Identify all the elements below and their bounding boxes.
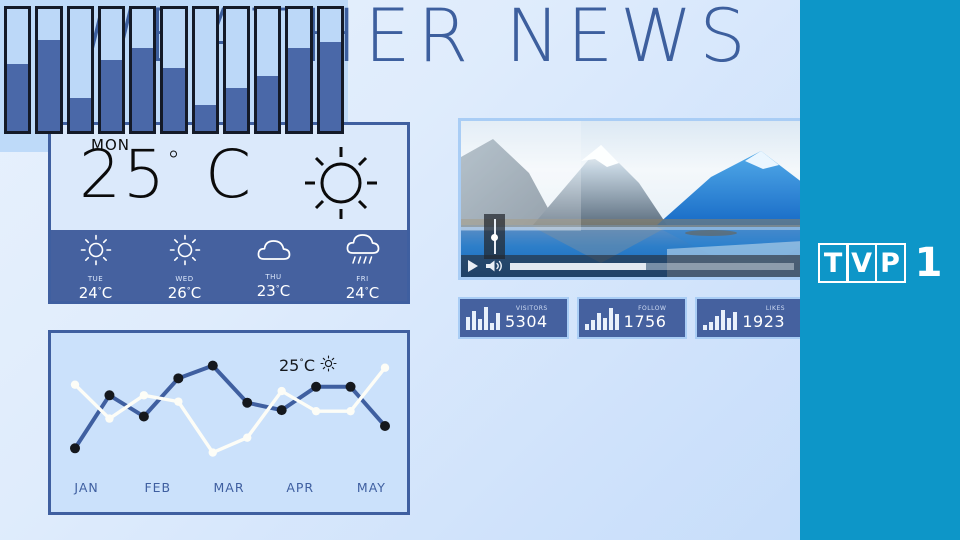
stat-value: 1756 [624,314,667,330]
forecast-unit: C [191,284,201,302]
forecast-temp-value: 26 [168,284,187,302]
forecast-item-wed: WED 26°C [140,230,229,301]
forecast-item-thu: THU 23°C [229,230,318,301]
video-player[interactable] [458,118,806,280]
line-data-point [70,443,80,453]
bar-chart-icon [585,306,619,330]
forecast-unit: C [280,282,290,300]
chart-temperature-badge: 25°C [279,355,337,376]
today-temperature: 25° C [79,142,253,208]
forecast-temp: 24°C [79,284,113,302]
tvp-channel-number: 1 [915,243,943,283]
tvp-letter-p: P [875,243,906,283]
sun-icon [168,233,202,272]
line-data-point [105,414,113,422]
bar-chart-column-fill [195,105,216,131]
bar-chart-column [285,6,312,134]
chart-badge-unit: C [304,356,315,375]
line-data-point [104,390,114,400]
line-data-point [174,397,182,405]
line-data-point [173,373,183,383]
bar-chart-icon [703,306,737,330]
bar-chart-column [223,6,250,134]
video-controls-bar[interactable] [461,255,803,277]
stat-value: 1923 [742,314,785,330]
line-data-point [346,407,354,415]
stat-value: 5304 [505,314,548,330]
month-label-apr: APR [265,480,336,495]
forecast-temp: 24°C [346,284,380,302]
bar-chart-icon [466,306,500,330]
volume-slider[interactable] [484,214,505,259]
bar-chart-column-fill [320,42,341,131]
line-data-point [380,421,390,431]
bar-chart-column [129,6,156,134]
bar-chart-column [98,6,125,134]
tvp-letter-v: V [846,243,877,283]
forecast-row: TUE 24°C WED 26°C [51,230,407,301]
month-label-feb: FEB [122,480,193,495]
line-data-point [346,382,356,392]
stat-card-visitors[interactable]: VISITORS 5304 [458,297,569,339]
chart-badge-temp: 25°C [279,356,315,375]
line-data-point [140,391,148,399]
tvp-letter-t: T [818,243,849,283]
forecast-day-label: TUE [88,275,103,283]
stat-card-likes[interactable]: LIKES 1923 [695,297,806,339]
today-temp-value: 25 [79,136,167,213]
line-data-point [208,361,218,371]
bar-chart-column [4,6,31,134]
tvp-letter-boxes: T V P [818,243,906,283]
temperature-line-chart-card: 25°C JAN FEB MAR APR MAY [48,330,410,515]
forecast-day-label: FRI [356,275,368,283]
line-data-point [312,407,320,415]
chart-month-labels: JAN FEB MAR APR MAY [51,480,407,495]
bar-chart-column [67,6,94,134]
chart-badge-value: 25 [279,356,299,375]
bar-chart-column-fill [70,98,91,131]
bar-chart-column [317,6,344,134]
forecast-temp: 23°C [257,282,291,300]
line-data-point [242,398,252,408]
forecast-item-tue: TUE 24°C [51,230,140,301]
bar-chart-column-fill [257,76,278,131]
line-series-path [75,368,385,453]
forecast-unit: C [369,284,379,302]
today-degree-symbol: ° [167,146,182,176]
video-progress-bar[interactable] [510,263,794,270]
tvp1-logo: T V P 1 [800,243,960,283]
forecast-day-label: THU [265,273,281,281]
bar-chart-column [254,6,281,134]
line-data-point [277,405,287,415]
play-icon[interactable] [468,260,478,272]
bar-chart-column-fill [101,60,122,131]
forecast-temp-value: 24 [346,284,365,302]
bar-chart-column-fill [288,48,309,131]
month-label-mar: MAR [193,480,264,495]
bar-chart-column-fill [163,68,184,131]
forecast-temp: 26°C [168,284,202,302]
line-data-point [311,382,321,392]
cloud-icon [256,235,292,270]
today-unit: C [205,136,253,213]
line-series-path [75,366,385,449]
stat-text-visitors: VISITORS 5304 [505,306,548,330]
statistics-row: VISITORS 5304 FOLLOW 1756 LIKES 1923 [458,297,806,339]
brand-panel: T V P 1 [800,0,960,540]
line-data-point [139,411,149,421]
forecast-temp-value: 23 [257,282,276,300]
stat-text-likes: LIKES 1923 [742,306,785,330]
bar-chart-column [35,6,62,134]
video-thumbnail-image [461,121,803,277]
forecast-unit: C [102,284,112,302]
bar-chart-column [160,6,187,134]
sun-icon [301,143,381,228]
forecast-day-label: WED [175,275,193,283]
bar-chart-column [192,6,219,134]
month-label-may: MAY [336,480,407,495]
bar-chart-column-fill [226,88,247,131]
bar-chart-column-fill [7,64,28,131]
volume-control[interactable] [485,259,503,273]
line-data-point [209,448,217,456]
speaker-icon[interactable] [485,259,503,273]
vertical-bar-chart [0,0,348,152]
line-data-point [243,433,251,441]
rain-icon [345,233,381,272]
line-data-point [71,380,79,388]
line-data-point [381,364,389,372]
sun-icon [320,355,337,376]
bar-chart-column-fill [38,40,59,132]
line-data-point [277,387,285,395]
volume-slider-knob[interactable] [491,234,498,241]
month-label-jan: JAN [51,480,122,495]
forecast-item-fri: FRI 24°C [318,230,407,301]
today-weather-main: MON 25° C [51,125,407,230]
bar-chart-column-fill [132,48,153,131]
stat-text-follow: FOLLOW 1756 [624,306,667,330]
stat-card-follow[interactable]: FOLLOW 1756 [577,297,688,339]
today-weather-card: MON 25° C [48,122,410,304]
video-progress-fill [510,263,646,270]
sun-icon [79,233,113,272]
forecast-temp-value: 24 [79,284,98,302]
